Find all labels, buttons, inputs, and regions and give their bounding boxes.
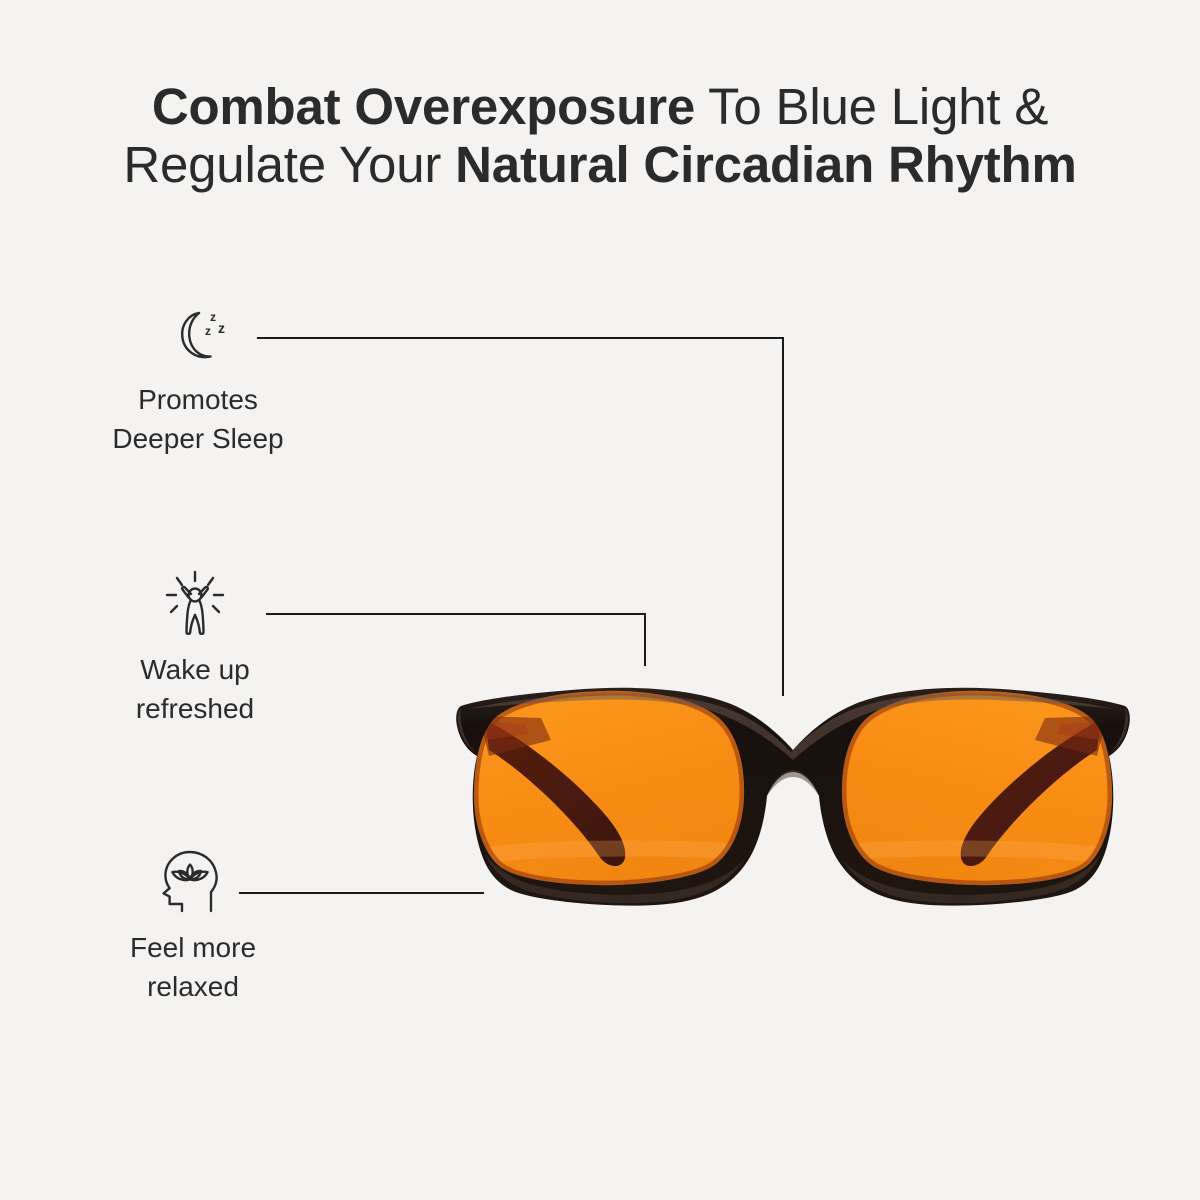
headline-line-2-light: Regulate Your xyxy=(123,136,455,193)
svg-text:z: z xyxy=(210,310,216,324)
feature-label: Promotes Deeper Sleep xyxy=(83,380,313,458)
connector-line-wake-vertical xyxy=(644,613,646,666)
connector-line-wake-horizontal xyxy=(266,613,646,615)
connector-line-sleep-horizontal xyxy=(257,337,784,339)
svg-text:z: z xyxy=(218,320,225,336)
icon-container xyxy=(80,570,310,636)
infographic-canvas: Combat Overexposure To Blue Light & Regu… xyxy=(0,0,1200,1200)
head-lotus-icon xyxy=(154,848,232,914)
page-title: Combat Overexposure To Blue Light & Regu… xyxy=(0,78,1200,194)
feature-wake-up-refreshed: Wake up refreshed xyxy=(80,570,310,728)
product-image-glasses xyxy=(455,678,1131,918)
icon-container xyxy=(78,848,308,914)
feature-label: Feel more relaxed xyxy=(78,928,308,1006)
headline-line-1-strong: Combat Overexposure xyxy=(152,78,695,135)
headline-line-2-strong: Natural Circadian Rhythm xyxy=(455,136,1077,193)
headline-line-1-light: To Blue Light & xyxy=(695,78,1048,135)
feature-feel-more-relaxed: Feel more relaxed xyxy=(78,848,308,1006)
feature-label: Wake up refreshed xyxy=(80,650,310,728)
headline-line-2: Regulate Your Natural Circadian Rhythm xyxy=(0,136,1200,194)
connector-line-sleep-vertical xyxy=(782,337,784,696)
person-stretching-icon xyxy=(155,570,235,636)
svg-text:z: z xyxy=(205,324,211,338)
headline-line-1: Combat Overexposure To Blue Light & xyxy=(0,78,1200,136)
icon-container: z z z xyxy=(83,300,313,366)
moon-zzz-icon: z z z xyxy=(161,304,235,366)
feature-promotes-deeper-sleep: z z z Promotes Deeper Sleep xyxy=(83,300,313,458)
